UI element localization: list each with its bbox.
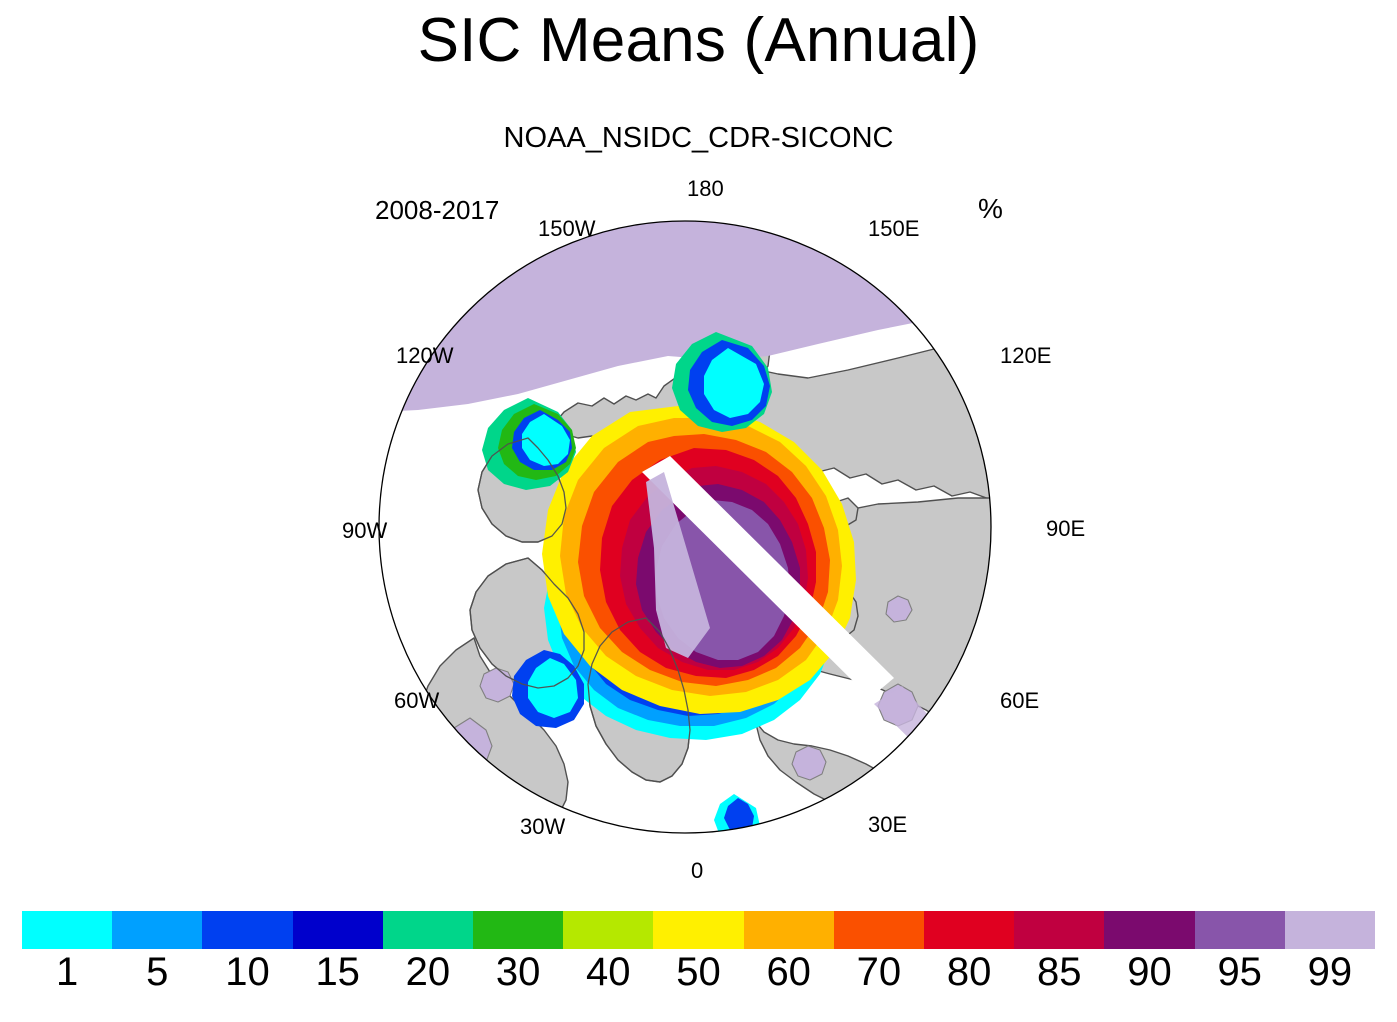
colorbar-cell-95-99 bbox=[1195, 911, 1285, 949]
colorbar-tick-30: 30 bbox=[496, 950, 541, 995]
figure-root: SIC Means (Annual) NOAA_NSIDC_CDR-SICONC… bbox=[0, 0, 1397, 1022]
map-canvas bbox=[378, 198, 992, 856]
colorbar bbox=[22, 911, 1375, 949]
colorbar-cell-15-20 bbox=[293, 911, 383, 949]
colorbar-tick-60: 60 bbox=[766, 950, 811, 995]
lon-label-0: 0 bbox=[691, 858, 703, 884]
colorbar-tick-labels: 1510152030405060708085909599 bbox=[0, 950, 1397, 1002]
figure-title: SIC Means (Annual) bbox=[0, 10, 1397, 72]
colorbar-tick-95: 95 bbox=[1217, 950, 1262, 995]
lon-label-180: 180 bbox=[687, 176, 724, 202]
colorbar-tick-15: 15 bbox=[315, 950, 360, 995]
colorbar-tick-50: 50 bbox=[676, 950, 721, 995]
colorbar-tick-40: 40 bbox=[586, 950, 631, 995]
colorbar-cell-60-70 bbox=[744, 911, 834, 949]
lon-label-30w: 30W bbox=[520, 814, 565, 840]
colorbar-tick-99: 99 bbox=[1308, 950, 1353, 995]
colorbar-cell-20-30 bbox=[383, 911, 473, 949]
colorbar-tick-1: 1 bbox=[56, 950, 78, 995]
colorbar-tick-85: 85 bbox=[1037, 950, 1082, 995]
land-iceland bbox=[618, 854, 650, 856]
lon-label-60w: 60W bbox=[394, 688, 439, 714]
colorbar-cell-80-85 bbox=[924, 911, 1014, 949]
colorbar-cell-5-10 bbox=[112, 911, 202, 949]
lon-label-120e: 120E bbox=[1000, 343, 1051, 369]
colorbar-cell-85-90 bbox=[1014, 911, 1104, 949]
lon-label-30e: 30E bbox=[868, 812, 907, 838]
colorbar-cell-70-80 bbox=[834, 911, 924, 949]
colorbar-cell-10-15 bbox=[202, 911, 292, 949]
tint-region-baltic bbox=[792, 746, 826, 780]
colorbar-cell-50-60 bbox=[653, 911, 743, 949]
colorbar-cell-1-5 bbox=[22, 911, 112, 949]
colorbar-tick-90: 90 bbox=[1127, 950, 1172, 995]
lon-label-150w: 150W bbox=[538, 216, 595, 242]
lon-label-150e: 150E bbox=[868, 216, 919, 242]
colorbar-cell-30-40 bbox=[473, 911, 563, 949]
colorbar-tick-80: 80 bbox=[947, 950, 992, 995]
colorbar-tick-10: 10 bbox=[225, 950, 270, 995]
lon-label-90e: 90E bbox=[1046, 516, 1085, 542]
figure-subtitle: NOAA_NSIDC_CDR-SICONC bbox=[0, 122, 1397, 155]
lon-label-120w: 120W bbox=[396, 343, 453, 369]
polar-map: 180150W120W90W60W30W030E60E90E120E150E bbox=[378, 198, 992, 856]
lon-label-90w: 90W bbox=[342, 518, 387, 544]
colorbar-cell-40-50 bbox=[563, 911, 653, 949]
tint-region-east bbox=[904, 758, 982, 836]
lon-label-60e: 60E bbox=[1000, 688, 1039, 714]
colorbar-cell-90-95 bbox=[1104, 911, 1194, 949]
colorbar-tick-70: 70 bbox=[857, 950, 902, 995]
colorbar-cell-99-100 bbox=[1285, 911, 1375, 949]
colorbar-tick-20: 20 bbox=[406, 950, 451, 995]
tint-region-canada-west bbox=[480, 668, 514, 702]
colorbar-tick-5: 5 bbox=[146, 950, 168, 995]
